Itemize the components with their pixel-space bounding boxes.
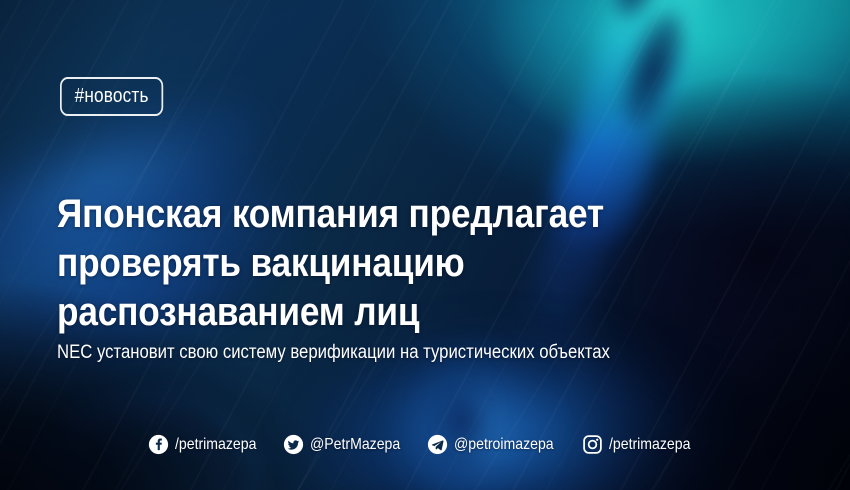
- social-handle-label: /petrimazepa: [175, 437, 256, 453]
- page-title: Японская компания предлагает проверять в…: [57, 190, 673, 336]
- page-subtitle: NEC установит свою систему верификации н…: [57, 341, 610, 366]
- news-card: #новость Японская компания предлагает пр…: [0, 0, 850, 490]
- social-links-row: /petrimazepa@PetrMazepa@petroimazepa/pet…: [0, 434, 850, 455]
- facebook-icon: [148, 434, 169, 455]
- social-link-facebook[interactable]: /petrimazepa: [148, 434, 268, 455]
- social-handle-label: @petroimazepa: [454, 437, 554, 453]
- telegram-icon: [427, 434, 448, 455]
- news-tag-badge[interactable]: #новость: [60, 77, 163, 116]
- social-link-twitter[interactable]: @PetrMazepa: [283, 434, 413, 455]
- social-link-instagram[interactable]: /petrimazepa: [582, 434, 702, 455]
- twitter-icon: [283, 434, 304, 455]
- card-content: #новость Японская компания предлагает пр…: [0, 0, 850, 490]
- social-handle-label: /petrimazepa: [609, 437, 690, 453]
- social-link-telegram[interactable]: @petroimazepa: [427, 434, 567, 455]
- social-handle-label: @PetrMazepa: [310, 437, 400, 453]
- instagram-icon: [582, 434, 603, 455]
